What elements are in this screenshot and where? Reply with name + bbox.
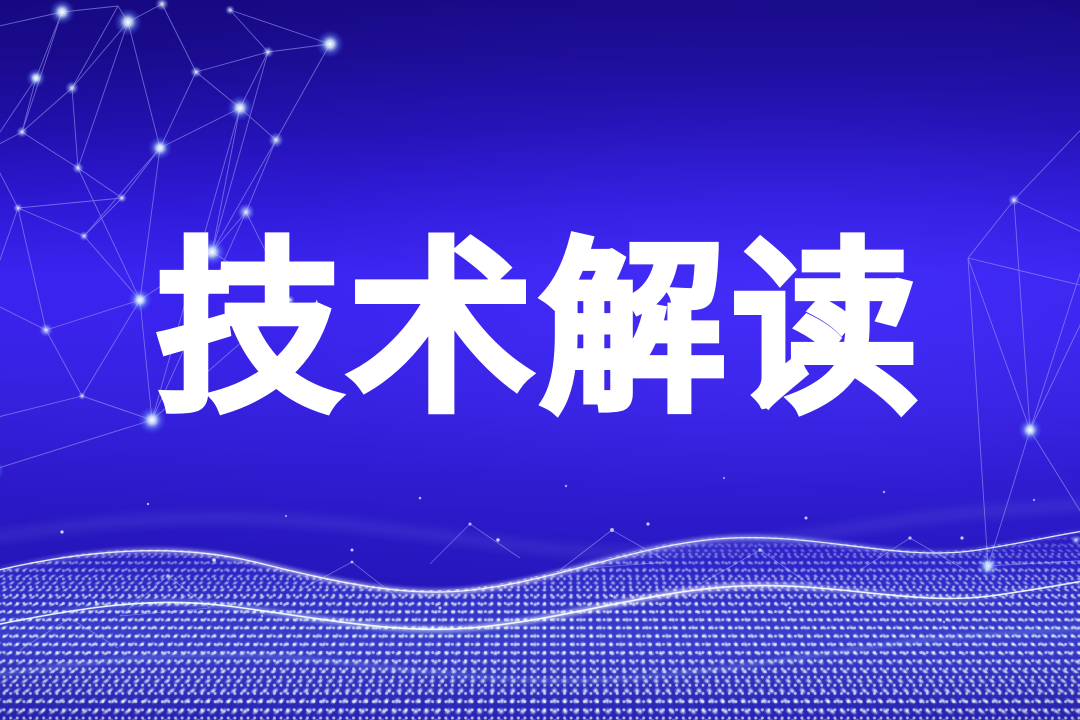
banner-canvas: 技术解读 xyxy=(0,0,1080,720)
background-vignette xyxy=(0,0,1080,720)
